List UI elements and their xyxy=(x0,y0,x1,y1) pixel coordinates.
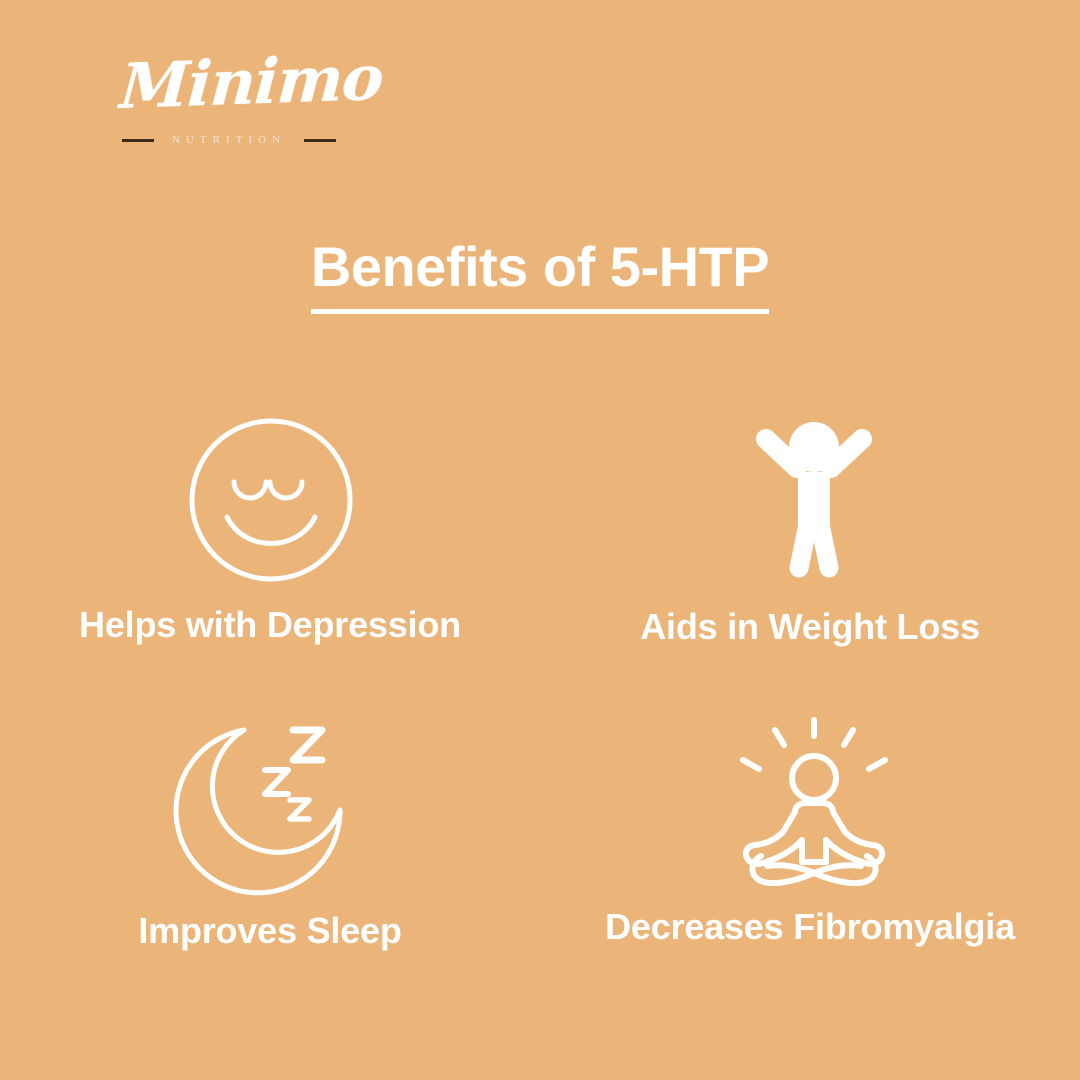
benefit-icon-slot xyxy=(183,400,359,600)
brand-logo: Minimo NUTRITION xyxy=(118,56,348,166)
benefits-grid: Helps with Depression Aids in Weight Los… xyxy=(0,400,1080,1012)
benefit-item-sleep: Improves Sleep xyxy=(0,706,540,1012)
brand-wordmark: Minimo xyxy=(118,48,353,118)
benefit-icon-slot xyxy=(754,400,874,600)
benefit-item-weight-loss: Aids in Weight Loss xyxy=(540,400,1080,706)
meditating-person-icon xyxy=(721,716,907,896)
benefit-item-depression: Helps with Depression xyxy=(0,400,540,706)
benefit-label: Decreases Fibromyalgia xyxy=(605,906,1015,948)
smiley-face-icon xyxy=(183,412,359,588)
benefit-icon-slot xyxy=(185,706,357,906)
page-title: Benefits of 5-HTP xyxy=(311,238,769,314)
crescent-moon-zzz-icon xyxy=(185,718,357,894)
brand-subtitle-row: NUTRITION xyxy=(122,134,336,146)
benefit-label: Aids in Weight Loss xyxy=(640,606,980,648)
page-title-container: Benefits of 5-HTP xyxy=(0,238,1080,314)
brand-subtitle: NUTRITION xyxy=(166,134,292,146)
benefit-item-fibromyalgia: Decreases Fibromyalgia xyxy=(540,706,1080,1012)
person-arms-raised-icon xyxy=(754,416,874,584)
logo-dash-left-icon xyxy=(122,139,154,142)
benefit-label: Helps with Depression xyxy=(79,604,461,646)
benefit-label: Improves Sleep xyxy=(138,910,401,952)
logo-dash-right-icon xyxy=(304,139,336,142)
benefit-icon-slot xyxy=(721,706,907,906)
